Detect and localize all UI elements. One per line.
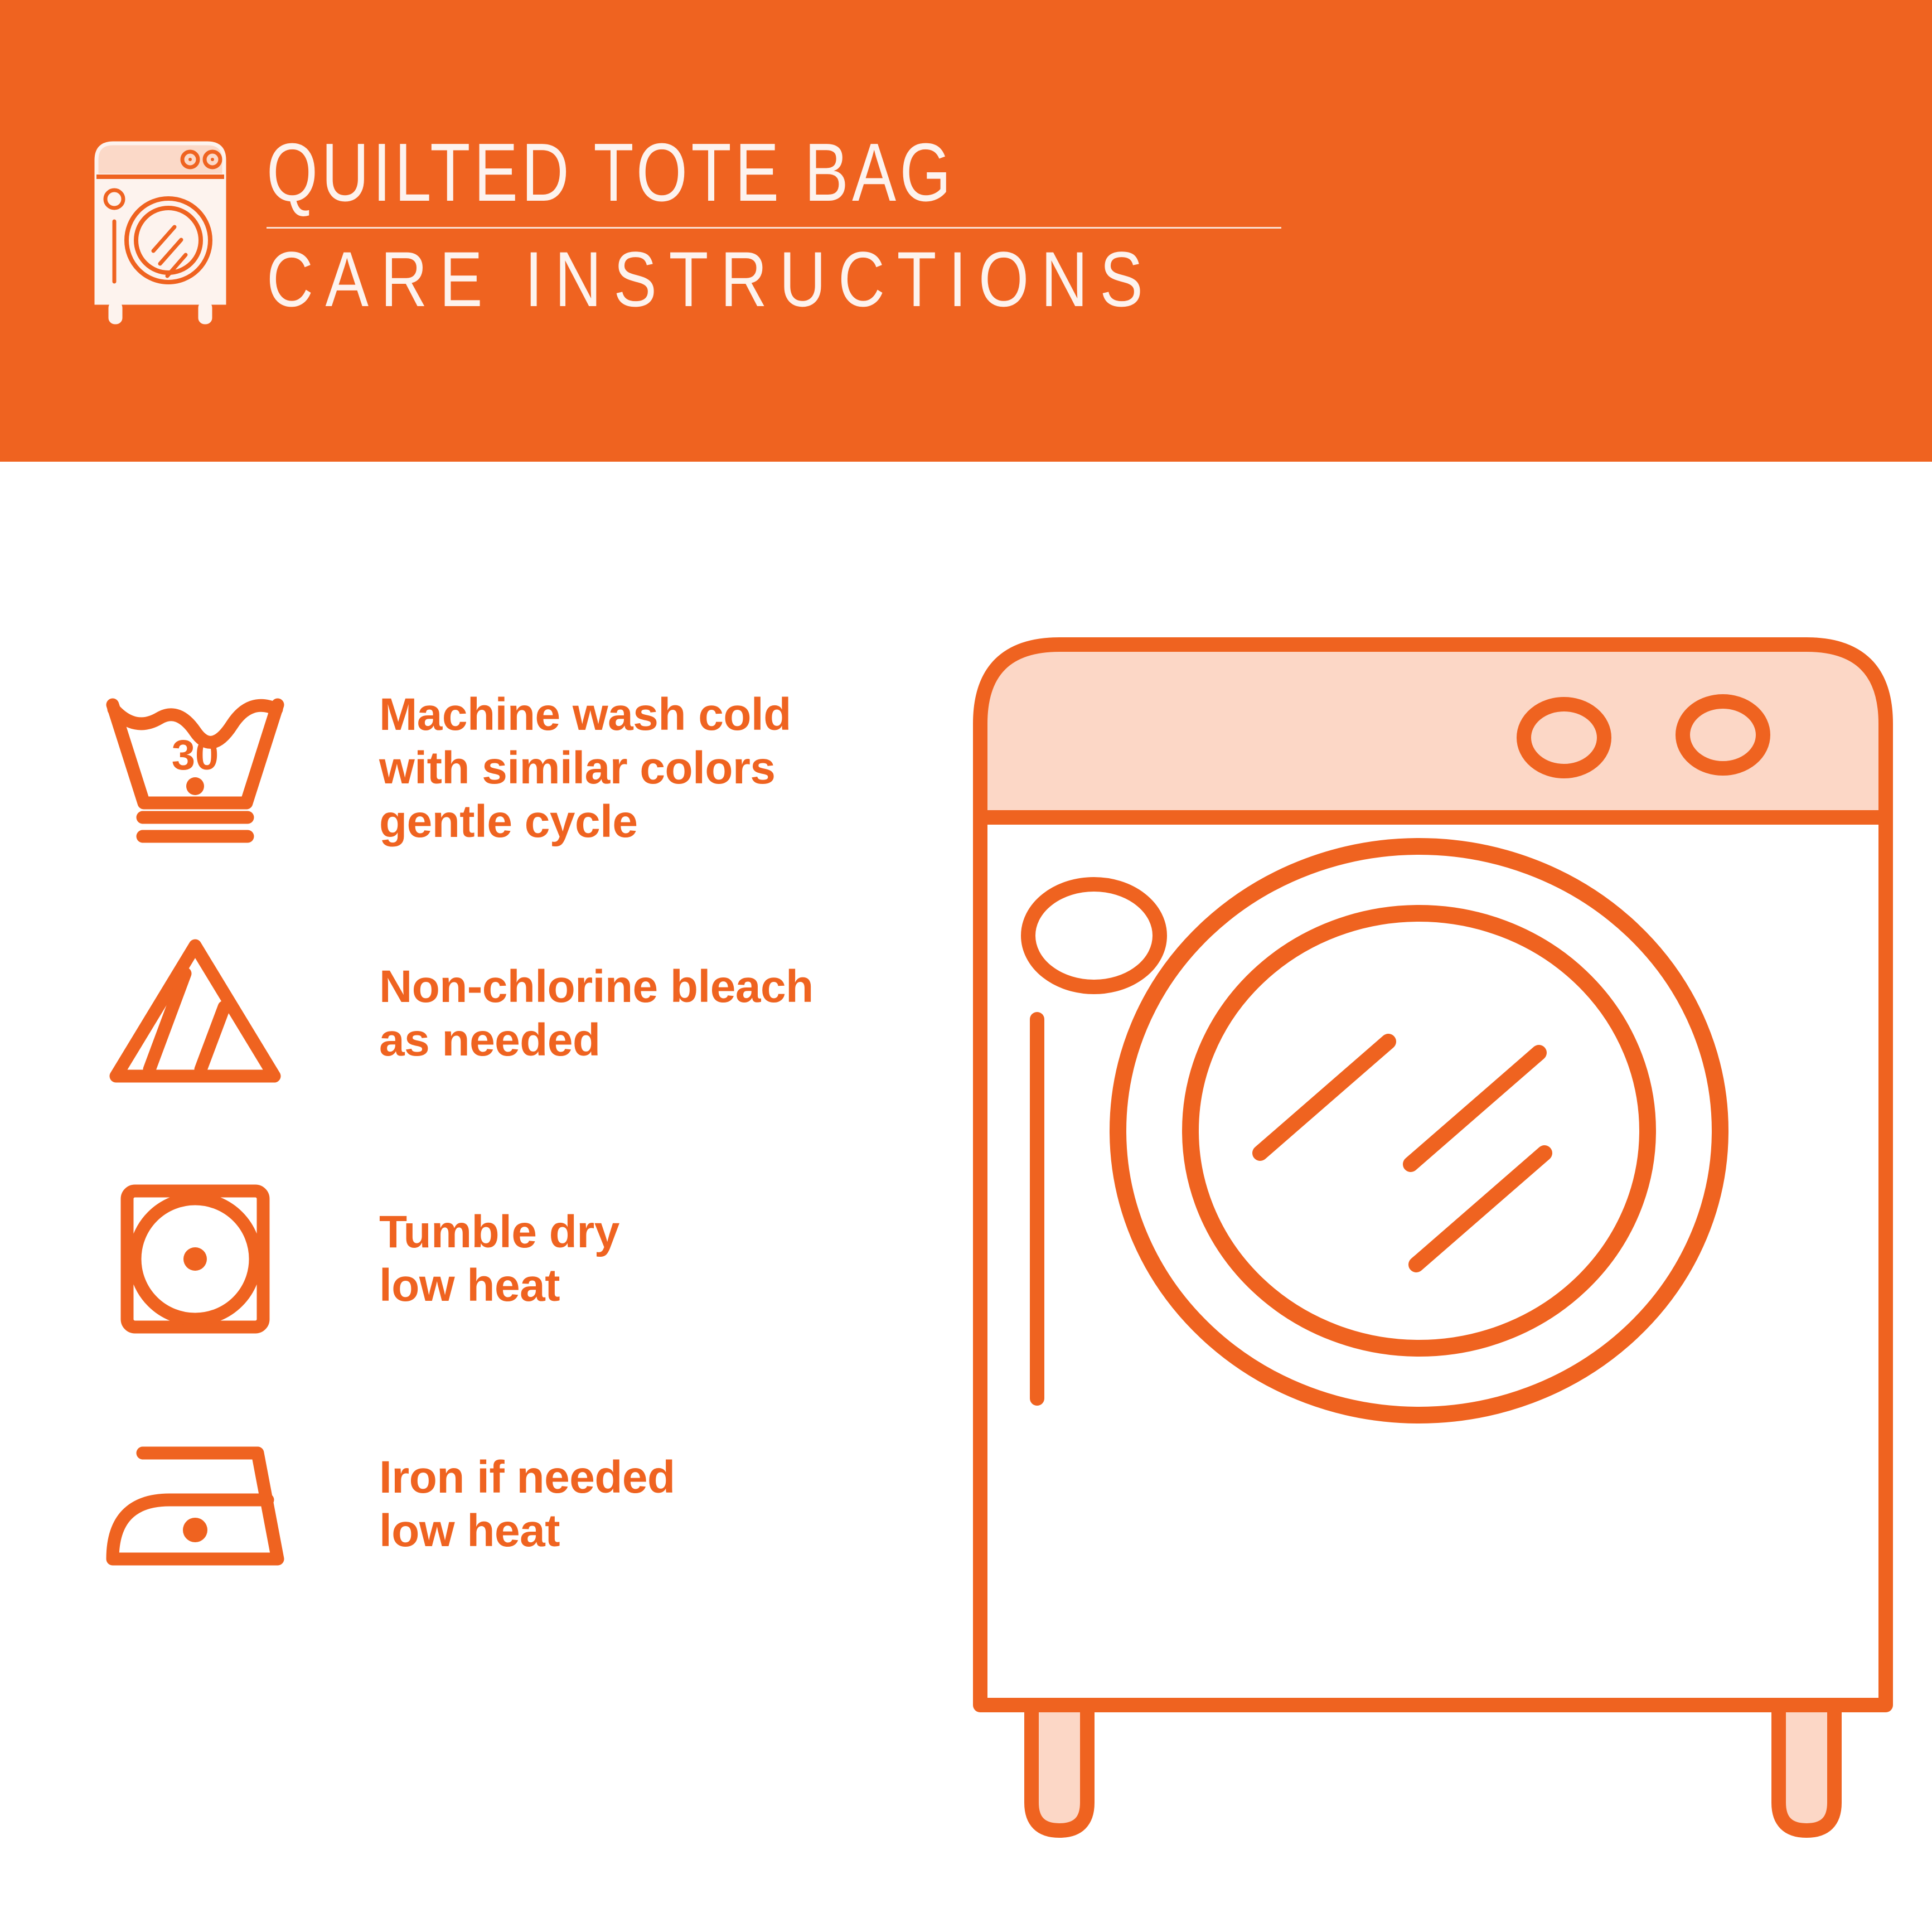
door-inner-ring (1190, 913, 1648, 1348)
leg-left (1032, 1705, 1087, 1831)
glass-shine-lines (1260, 1042, 1544, 1265)
washing-machine-illustration (948, 595, 1918, 1878)
care-item-iron: Iron if needed low heat (95, 1382, 931, 1627)
page-title: QUILTED TOTE BAG (267, 131, 1123, 215)
main-content: 30 Machine wash cold with similar colors… (0, 462, 1932, 1932)
care-item-dry: Tumble dry low heat (95, 1136, 931, 1382)
care-item-bleach-label: Non-chlorine bleach as needed (296, 960, 814, 1067)
care-item-dry-label: Tumble dry low heat (296, 1205, 619, 1313)
care-item-wash: 30 Machine wash cold with similar colors… (95, 646, 931, 891)
care-item-iron-label: Iron if needed low heat (296, 1451, 675, 1558)
title-divider (267, 227, 1281, 229)
care-item-bleach: Non-chlorine bleach as needed (95, 891, 931, 1136)
header-title-group: QUILTED TOTE BAG CARE INSTRUCTIONS (267, 131, 1337, 320)
wash-temperature-value: 30 (172, 732, 219, 779)
header-content: QUILTED TOTE BAG CARE INSTRUCTIONS (86, 131, 1337, 326)
wash-tub-30-gentle-icon: 30 (95, 685, 296, 852)
care-item-wash-label: Machine wash cold with similar colors ge… (296, 688, 791, 849)
door-outer-ring (1118, 846, 1720, 1415)
iron-low-heat-icon (95, 1421, 296, 1588)
care-instruction-list: 30 Machine wash cold with similar colors… (95, 646, 931, 1627)
washing-machine-icon (86, 137, 234, 326)
header-banner: QUILTED TOTE BAG CARE INSTRUCTIONS (0, 0, 1932, 462)
control-panel (980, 645, 1886, 817)
tumble-dry-low-icon (95, 1175, 296, 1343)
leg-right (1779, 1705, 1834, 1831)
page-subtitle: CARE INSTRUCTIONS (267, 239, 1155, 320)
triangle-non-chlorine-bleach-icon (95, 930, 296, 1097)
detergent-drawer-knob (1028, 884, 1160, 987)
